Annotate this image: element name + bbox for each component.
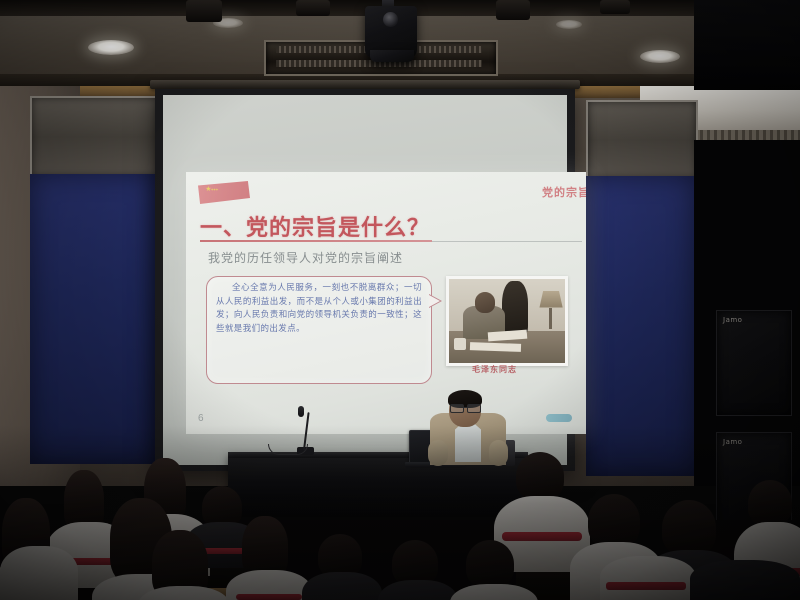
microphone-head-icon [298,406,304,417]
uniform-red-stripe [502,532,582,541]
student-uniform [0,546,78,600]
historical-photo-frame [446,276,568,366]
presentation-slide: ★✦✦✦ 党的宗旨 一、党的宗旨是什么？ 我党的历任领导人对党的宗旨阐述 全心全… [186,172,586,434]
left-wall-window [30,96,159,178]
lecture-hall-photo: Jamo Jamo ★✦✦✦ 党的宗旨 一、党的宗旨是什么？ 我党的历任领导人对… [0,0,800,600]
slide-logo [546,414,572,422]
student-hair [748,480,792,526]
speaker-brand-label: Jamo [723,438,742,446]
photo-cup [454,338,467,350]
ceiling-downlight [556,20,582,29]
ceiling-downlight [640,50,680,63]
ceiling-track-fixture [296,0,330,16]
callout-tail-inner [429,295,440,307]
title-underline-red [200,240,432,242]
speaker-brand-label: Jamo [723,316,742,324]
ceiling-track-fixture [600,0,630,14]
presenter-arm [428,440,448,466]
student-uniform [600,556,696,600]
student-hair [516,452,564,500]
right-wall-window [586,100,698,180]
screen-roller [150,80,580,89]
slide-header-right: 党的宗旨 [542,184,586,200]
presenter-arm [489,440,508,466]
student-hair [242,516,288,578]
uniform-red-stripe [606,582,686,590]
student-hair [662,500,716,556]
quote-text: 全心全意为人民服务，一刻也不脱离群众；一切从人民的利益出发，而不是从个人或小集团… [216,282,422,336]
student-uniform [302,572,382,600]
photo-person-head [475,292,496,312]
presenter-glasses [467,404,481,413]
ceiling-track-fixture [186,0,222,22]
stage-table [228,458,528,516]
student-uniform [690,560,800,600]
chinese-flag-icon: ★✦✦✦ [198,181,250,206]
flag-stars-icon: ★✦✦✦ [205,187,217,193]
slide-page-number: 6 [198,413,204,424]
photo-dark-curtain [502,281,528,336]
projector-lens-icon [383,12,398,27]
student-hair [466,540,514,588]
right-upper-dark [694,0,800,90]
slide-title: 一、党的宗旨是什么？ [200,210,430,242]
ceiling-downlight [88,40,134,55]
wall-speaker-upper: Jamo [716,310,792,416]
projector-lower-housing [370,50,414,62]
photo-lamp-shade [539,291,562,308]
photo-lamp-pole [549,308,552,330]
acoustic-panel-right [586,176,694,476]
photo-paper [470,342,521,351]
uniform-red-stripe [236,594,302,600]
historical-photo [449,279,565,363]
student-hair [588,494,640,548]
ceiling-track-fixture [496,0,530,20]
acoustic-panel-left [30,174,155,464]
microphone-cable [268,444,308,455]
glasses-bridge [462,407,467,408]
title-underline-gray [432,241,582,242]
presenter-glasses [450,404,464,413]
photo-caption: 毛泽东同志 [472,364,517,375]
slide-subtitle: 我党的历任领导人对党的宗旨阐述 [208,249,403,266]
